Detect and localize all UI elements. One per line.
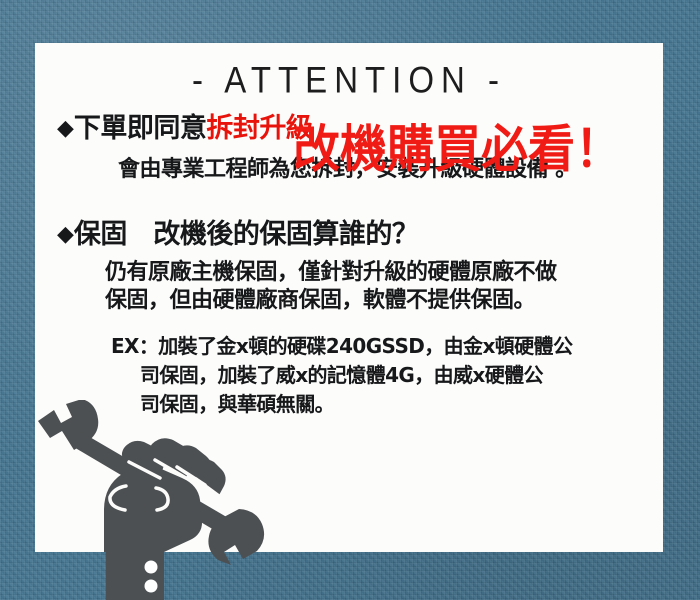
body-line-warranty-1: 仍有原廠主機保固，僅針對升級的硬體原廠不做	[105, 262, 557, 284]
cuff-dot-2	[145, 580, 158, 593]
bullet-heading-text-warranty: 保固 改機後的保固算誰的？	[74, 219, 419, 250]
body-line-warranty-2: 保固，但由硬體廠商保固，軟體不提供保固。	[105, 290, 535, 312]
page-title: - ATTENTION -	[35, 59, 663, 102]
diamond-bullet-icon: ◆	[57, 116, 74, 141]
example-line-2: 司保固，加裝了威x的記憶體4G，由威x硬體公	[140, 365, 543, 385]
bullet-heading-text-black: 下單即同意	[74, 113, 207, 144]
poster-root: - ATTENTION - ◆下單即同意拆封升級 會由專業工程師為您拆封，安裝升…	[0, 0, 700, 600]
bullet-heading-warranty: ◆保固 改機後的保固算誰的？	[57, 221, 418, 248]
sleeve-cuff	[106, 550, 164, 600]
bullet-heading-unseal-upgrade: ◆下單即同意拆封升級	[57, 115, 312, 142]
cuff-dot-1	[145, 561, 158, 574]
example-line-1: EX：加裝了金x頓的硬碟240GSSD，由金x頓硬體公	[111, 336, 572, 356]
example-line-3: 司保固，與華碩無關。	[140, 394, 334, 414]
white-content-card: - ATTENTION - ◆下單即同意拆封升級 會由專業工程師為您拆封，安裝升…	[35, 43, 663, 552]
callout-headline: 改機購買必看！	[293, 107, 622, 182]
diamond-bullet-icon: ◆	[57, 222, 74, 247]
